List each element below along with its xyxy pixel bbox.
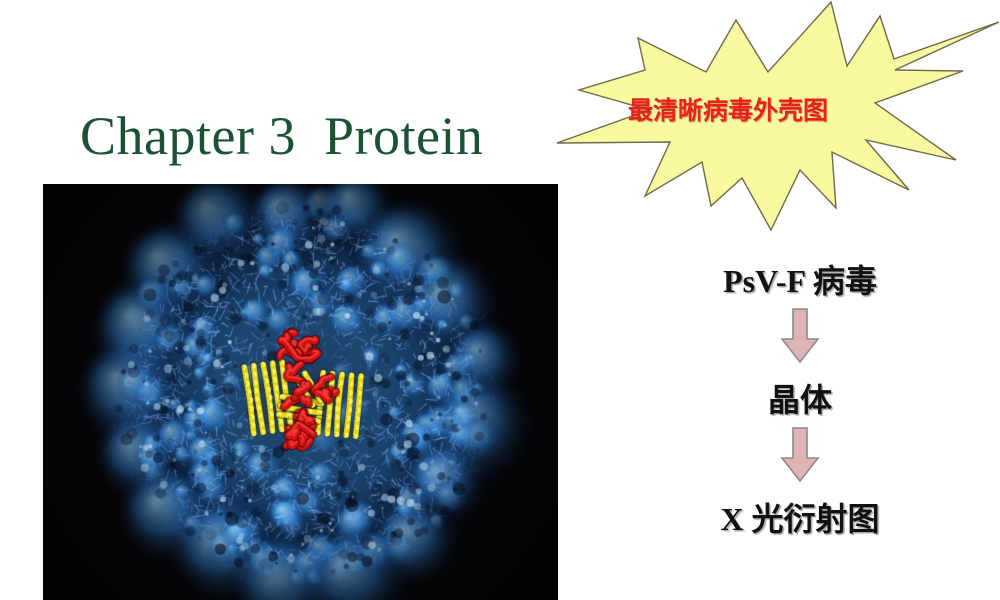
flow-step-diffraction: X 光衍射图 <box>720 502 879 537</box>
flow-step-virus: PsV-F 病毒 <box>723 264 877 371</box>
page-title: Chapter 3 Protein <box>80 105 580 167</box>
slide-canvas: Chapter 3 Protein 最清晰病毒外壳图 PsV-F 病毒 晶体 <box>0 0 1000 600</box>
virus-capsid-canvas <box>43 184 558 600</box>
virus-capsid-image <box>43 184 558 600</box>
starburst-label: 最清晰病毒外壳图 <box>628 98 928 123</box>
process-flow: PsV-F 病毒 晶体 X 光衍射图 <box>600 250 1000 580</box>
down-arrow-icon-2 <box>778 426 822 484</box>
starburst-shape-icon <box>550 0 1000 250</box>
flow-label-diffraction: X 光衍射图 <box>720 502 879 537</box>
down-arrow-icon-1 <box>778 307 822 365</box>
flow-step-crystal: 晶体 <box>768 383 832 490</box>
flow-label-virus: PsV-F 病毒 <box>723 264 877 299</box>
flow-label-crystal: 晶体 <box>768 383 832 418</box>
starburst-callout: 最清晰病毒外壳图 <box>550 0 1000 250</box>
